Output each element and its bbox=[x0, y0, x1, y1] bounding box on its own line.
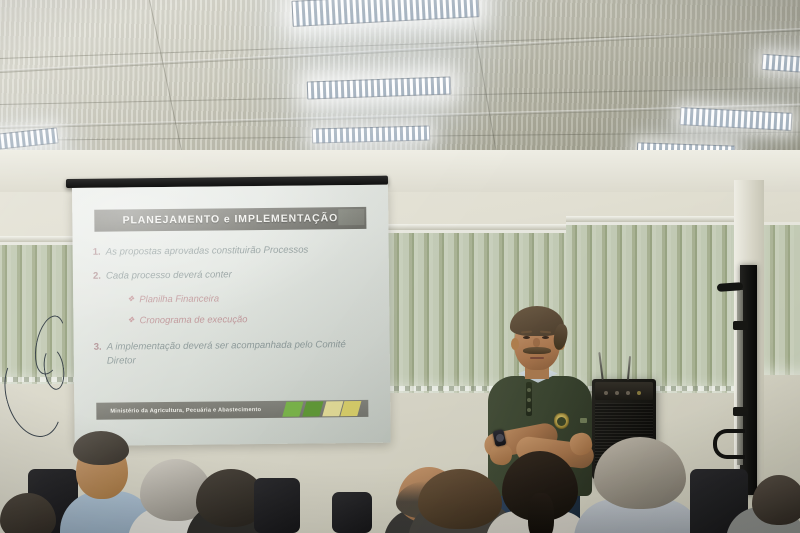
slide-item-text: A implementação deverá ser acompanhada p… bbox=[107, 338, 374, 367]
presenter-nose bbox=[533, 338, 540, 347]
slide-body: 1. As propostas aprovadas constituirão P… bbox=[93, 243, 374, 379]
slide-title-bar: PLANEJAMENTO e IMPLEMENTAÇÃO bbox=[94, 207, 366, 232]
presenter-mouth bbox=[530, 357, 544, 359]
slide-item-number: 2. bbox=[93, 270, 101, 283]
attendee-hair bbox=[73, 431, 129, 465]
slide-sub-item: ❖ Planilha Financeira bbox=[127, 291, 373, 306]
diamond-bullet-icon: ❖ bbox=[127, 315, 134, 327]
slide-item-number: 1. bbox=[93, 246, 101, 259]
stand-clamp bbox=[733, 407, 748, 416]
attendee-head bbox=[752, 475, 800, 525]
diamond-bullet-icon: ❖ bbox=[127, 294, 134, 306]
slide-list-item: 3. A implementação deverá ser acompanhad… bbox=[94, 338, 374, 367]
slide-corner-logo bbox=[338, 209, 364, 225]
attendee-ponytail bbox=[528, 493, 554, 533]
slide-sub-item-text: Planilha Financeira bbox=[139, 293, 219, 306]
slide-item-number: 3. bbox=[94, 341, 102, 368]
chair-back bbox=[332, 492, 372, 533]
slide-footer-text: Ministério da Agricultura, Pecuária e Ab… bbox=[110, 407, 261, 415]
projected-slide: PLANEJAMENTO e IMPLEMENTAÇÃO 1. As propo… bbox=[72, 185, 391, 446]
slide-list-item: 1. As propostas aprovadas constituirão P… bbox=[93, 243, 373, 259]
slide-item-text: Cada processo deverá conter bbox=[106, 269, 232, 284]
slide-list-item: 2. Cada processo deverá conter bbox=[93, 267, 373, 283]
stand-clamp bbox=[733, 321, 748, 330]
ministry-flag-logo bbox=[284, 400, 362, 418]
slide-sub-item-text: Cronograma de execução bbox=[140, 314, 248, 327]
presenter-moustache bbox=[523, 347, 551, 354]
slide-item-text: As propostas aprovadas constituirão Proc… bbox=[106, 244, 309, 259]
ceiling-light-fixture bbox=[312, 125, 430, 143]
window-blinds-far-right[interactable] bbox=[764, 222, 800, 375]
attendee-head bbox=[418, 469, 502, 529]
slide-title: PLANEJAMENTO e IMPLEMENTAÇÃO bbox=[122, 212, 338, 226]
slide-footer-bar: Ministério da Agricultura, Pecuária e Ab… bbox=[96, 400, 368, 420]
conference-room-photo: PLANEJAMENTO e IMPLEMENTAÇÃO 1. As propo… bbox=[0, 0, 800, 533]
chair-back bbox=[254, 478, 300, 533]
projector-screen: PLANEJAMENTO e IMPLEMENTAÇÃO 1. As propo… bbox=[72, 185, 391, 446]
audience-row bbox=[0, 423, 800, 533]
slide-sub-item: ❖ Cronograma de execução bbox=[127, 312, 373, 327]
attendee-head bbox=[594, 437, 686, 509]
